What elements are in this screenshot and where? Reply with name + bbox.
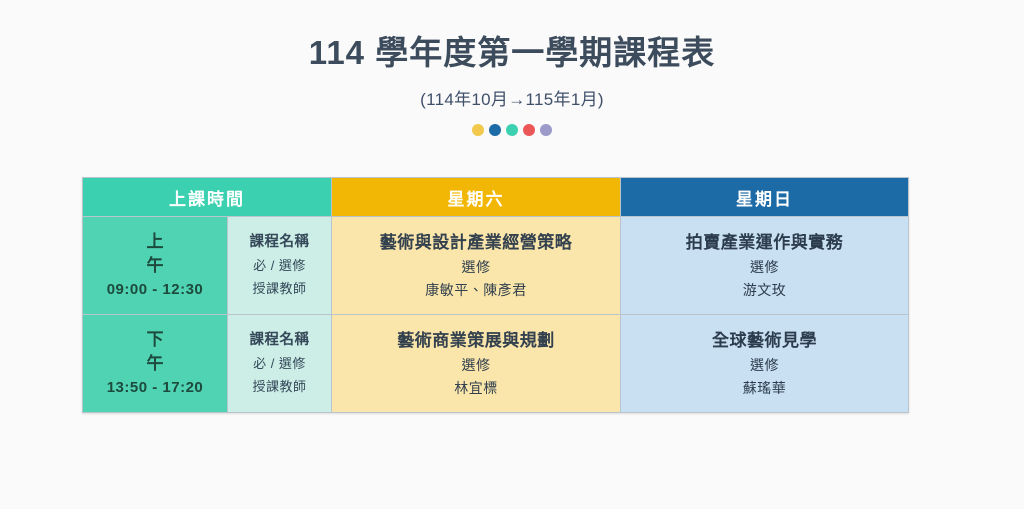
dot-yellow-icon	[472, 124, 484, 136]
period-label-morning: 上 午	[83, 230, 227, 279]
course-cell-sunday-morning[interactable]: 拍賣產業運作與實務 選修 游文玫	[621, 217, 909, 315]
label-teacher: 授課教師	[228, 278, 331, 301]
table-row-morning: 上 午 09:00 - 12:30 課程名稱 必 / 選修 授課教師 藝術與設計…	[83, 217, 909, 315]
table-body: 上 午 09:00 - 12:30 課程名稱 必 / 選修 授課教師 藝術與設計…	[83, 217, 909, 413]
schedule-page: 114 學年度第一學期課程表 (114年10月→115年1月) 上課時間 星期六…	[0, 0, 1024, 509]
course-type-saturday-morning: 選修	[332, 256, 620, 278]
page-title: 114 學年度第一學期課程表	[0, 33, 1024, 73]
schedule-table-container: 上課時間 星期六 星期日 上 午 09:00 - 12:30 課程名稱 必 / …	[82, 177, 908, 413]
time-cell-afternoon: 下 午 13:50 - 17:20	[83, 315, 228, 413]
column-header-saturday: 星期六	[332, 178, 621, 217]
dot-blue-icon	[489, 124, 501, 136]
page-subtitle: (114年10月→115年1月)	[0, 85, 1024, 110]
course-cell-sunday-afternoon[interactable]: 全球藝術見學 選修 蘇瑤華	[621, 315, 909, 413]
course-teacher-saturday-morning: 康敏平、陳彥君	[332, 279, 620, 301]
dot-purple-icon	[540, 124, 552, 136]
course-name-saturday-afternoon: 藝術商業策展與規劃	[332, 328, 620, 354]
course-type-sunday-morning: 選修	[621, 256, 908, 278]
course-type-saturday-afternoon: 選修	[332, 354, 620, 376]
course-teacher-sunday-afternoon: 蘇瑤華	[621, 377, 908, 399]
course-type-sunday-afternoon: 選修	[621, 354, 908, 376]
schedule-table: 上課時間 星期六 星期日 上 午 09:00 - 12:30 課程名稱 必 / …	[82, 177, 909, 413]
course-teacher-sunday-morning: 游文玫	[621, 279, 908, 301]
table-header: 上課時間 星期六 星期日	[83, 178, 909, 217]
table-header-row: 上課時間 星期六 星期日	[83, 178, 909, 217]
label-requirement: 必 / 選修	[228, 353, 331, 376]
course-cell-saturday-morning[interactable]: 藝術與設計產業經營策略 選修 康敏平、陳彥君	[332, 217, 621, 315]
time-cell-morning: 上 午 09:00 - 12:30	[83, 217, 228, 315]
course-cell-saturday-afternoon[interactable]: 藝術商業策展與規劃 選修 林宜標	[332, 315, 621, 413]
course-name-sunday-morning: 拍賣產業運作與實務	[621, 230, 908, 256]
dot-red-icon	[523, 124, 535, 136]
dot-teal-icon	[506, 124, 518, 136]
label-teacher: 授課教師	[228, 376, 331, 399]
period-label-afternoon: 下 午	[83, 328, 227, 377]
page-header: 114 學年度第一學期課程表 (114年10月→115年1月)	[0, 0, 1024, 136]
column-header-sunday: 星期日	[621, 178, 909, 217]
course-name-saturday-morning: 藝術與設計產業經營策略	[332, 230, 620, 256]
decorative-dot-row	[0, 124, 1024, 136]
label-requirement: 必 / 選修	[228, 255, 331, 278]
time-range-morning: 09:00 - 12:30	[83, 279, 227, 302]
time-range-afternoon: 13:50 - 17:20	[83, 377, 227, 400]
column-header-time: 上課時間	[83, 178, 332, 217]
course-name-sunday-afternoon: 全球藝術見學	[621, 328, 908, 354]
table-row-afternoon: 下 午 13:50 - 17:20 課程名稱 必 / 選修 授課教師 藝術商業策…	[83, 315, 909, 413]
course-teacher-saturday-afternoon: 林宜標	[332, 377, 620, 399]
